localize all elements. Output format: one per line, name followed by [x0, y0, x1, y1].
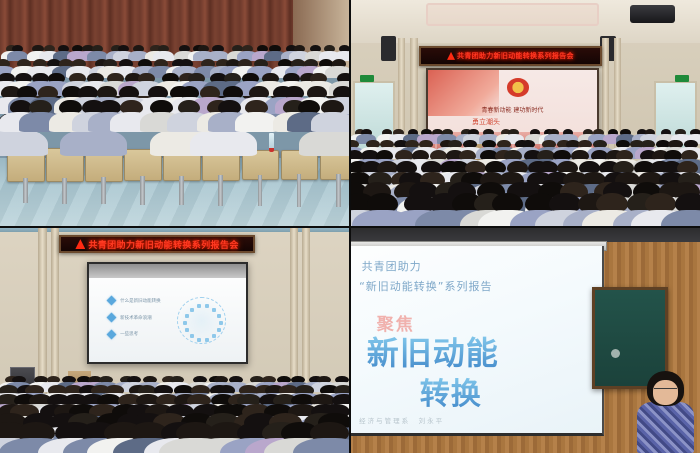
slide-bullet-1: 什么是新旧动能转换 — [108, 297, 161, 304]
seat-leg — [62, 178, 67, 204]
projector-icon — [630, 5, 676, 23]
speaker-box-left — [381, 36, 397, 61]
exit-sign-right — [675, 75, 689, 82]
seat-leg — [336, 174, 341, 208]
diagram-node — [185, 314, 189, 318]
projection-screen: 什么是新旧动能转换 新技术革命浪潮 一些思考 — [87, 262, 248, 364]
pillar — [290, 226, 298, 394]
seat-leg — [101, 177, 106, 204]
seat-leg — [297, 174, 302, 207]
diagram-node — [212, 334, 216, 338]
audience-rear-rows — [0, 45, 349, 140]
diagram-node — [217, 328, 221, 332]
diagram-node — [190, 308, 194, 312]
seat-leg — [179, 176, 184, 205]
diamond-bullet-icon — [107, 313, 117, 323]
audience-silhouette-strip — [349, 226, 700, 242]
audience-crowd — [349, 129, 700, 226]
exit-sign-left — [360, 75, 374, 82]
slide-footer: 经济与管理系 刘永平 — [359, 415, 444, 425]
led-banner: 共青团助力新旧动能转换系列报告会 — [59, 235, 254, 253]
diagram-node — [217, 314, 221, 318]
photo-collage: Front rows of seated audience in auditor… — [0, 0, 700, 453]
audience-shoulders — [60, 129, 126, 156]
projection-screen: 共青团助力 “新旧动能转换”系列报告 聚焦 新旧动能 转换 经济与管理系 刘永平 — [349, 246, 604, 435]
photo-panel-top-right: 共青团助力新旧动能转换系列报告会 青春新动能 建功新时代 勇立潮头 View f… — [349, 0, 700, 226]
slide-bullet-text: 什么是新旧动能转换 — [120, 298, 161, 304]
led-banner-text: 共青团助力新旧动能转换系列报告会 — [457, 51, 574, 61]
diagram-node — [205, 338, 209, 342]
diamond-bullet-icon — [107, 296, 117, 306]
seat-leg — [23, 178, 28, 203]
youth-league-emblem-icon — [507, 78, 529, 96]
audience-crowd — [0, 376, 349, 453]
diagram-node — [185, 328, 189, 332]
slide-bullet-text: 新技术革命浪潮 — [120, 315, 152, 321]
youth-league-triangle-icon — [75, 239, 85, 249]
photo-panel-bottom-left: 共青团助力新旧动能转换系列报告会 什么是新旧动能转换 新技术革命浪潮 一些思考 … — [0, 226, 349, 453]
diamond-bullet-icon — [107, 329, 117, 339]
pillar — [302, 226, 310, 394]
ceiling-recess — [426, 3, 598, 26]
presenter-glasses-icon — [654, 388, 677, 393]
pillar — [38, 226, 46, 394]
youth-league-triangle-icon — [447, 52, 455, 60]
slide-graphic-line1: 新旧动能 — [367, 328, 499, 374]
diagram-node — [212, 308, 216, 312]
slide-graphic-line2: 转换 — [420, 369, 482, 413]
pillar — [51, 226, 59, 394]
audience-shoulders — [299, 129, 349, 156]
slide-bullet-text: 一些思考 — [120, 331, 138, 337]
diagram-node — [197, 338, 201, 342]
diagram-node — [190, 334, 194, 338]
chalkboard-knob-icon — [611, 349, 620, 358]
photo-panel-top-left: Front rows of seated audience in auditor… — [0, 0, 349, 226]
diagram-node — [219, 321, 223, 325]
presenter-torso — [637, 402, 694, 453]
slide-headline: 青春新动能 建功新时代 — [442, 104, 584, 116]
presenter-figure — [633, 371, 696, 453]
slide-bullet-2: 新技术革命浪潮 — [108, 314, 152, 321]
slide-title-line1: 共青团助力 — [362, 258, 422, 274]
audience-shoulders — [0, 129, 48, 156]
photo-panel-bottom-right: 共青团助力 “新旧动能转换”系列报告 聚焦 新旧动能 转换 经济与管理系 刘永平… — [349, 226, 700, 453]
audience-shoulders — [311, 112, 349, 132]
slide-title-line2: “新旧动能转换”系列报告 — [359, 278, 492, 294]
screen-shade — [89, 264, 246, 278]
slide-bullet-3: 一些思考 — [108, 331, 138, 338]
seat-leg — [218, 175, 223, 205]
slide-signature: 勇立潮头 — [472, 117, 500, 127]
diagram-node — [205, 304, 209, 308]
panel-seam-horizontal — [0, 226, 700, 228]
seat-leg — [258, 175, 263, 206]
audience-shoulders — [235, 112, 278, 132]
seat-leg — [140, 176, 145, 204]
led-banner: 共青团助力新旧动能转换系列报告会 — [419, 46, 602, 65]
diagram-node — [183, 321, 187, 325]
diagram-node — [197, 304, 201, 308]
led-banner-text: 共青团助力新旧动能转换系列报告会 — [88, 238, 238, 251]
audience-shoulders — [190, 129, 256, 156]
circular-network-diagram-icon — [177, 297, 226, 344]
